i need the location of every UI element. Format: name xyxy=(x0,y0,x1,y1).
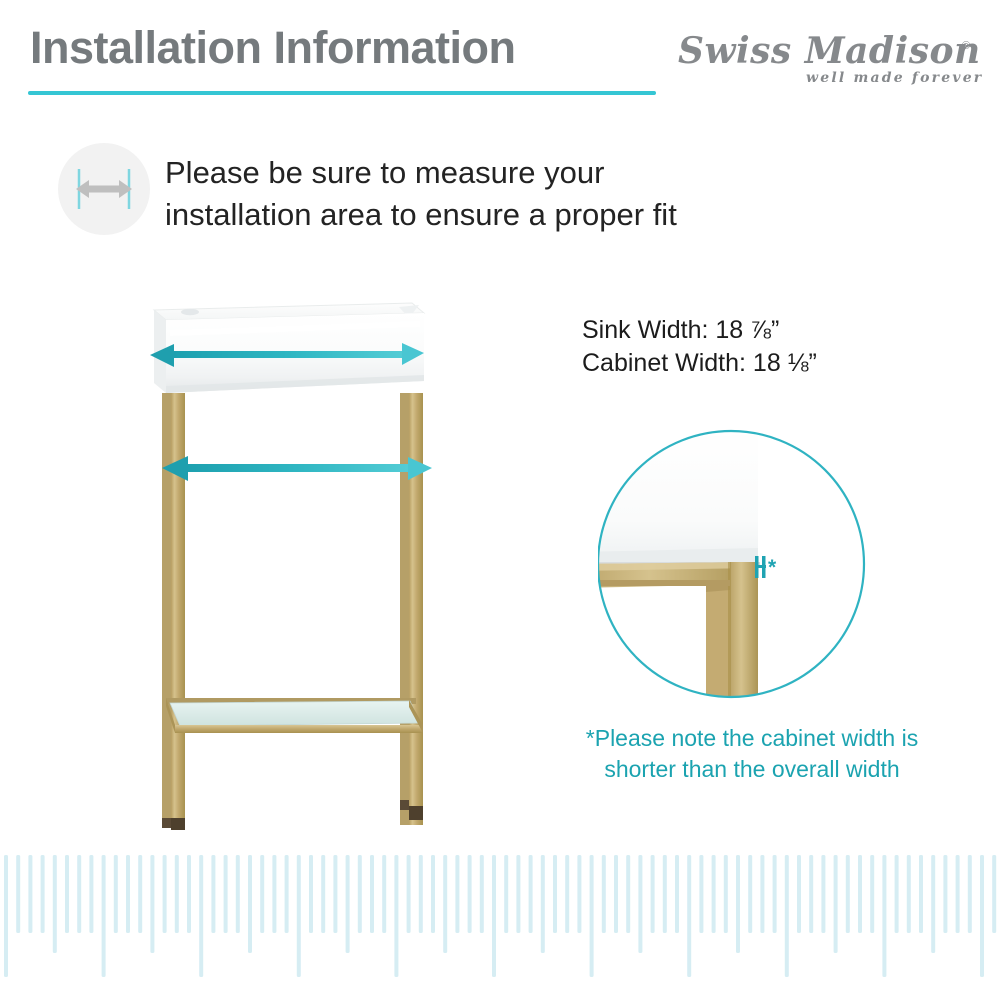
ruler-tick xyxy=(992,855,996,933)
ruler-tick xyxy=(394,855,398,977)
ruler-tick xyxy=(614,855,618,933)
ruler-tick xyxy=(163,855,167,933)
ruler-tick xyxy=(516,855,520,933)
ruler-tick xyxy=(321,855,325,933)
ruler-tick xyxy=(89,855,93,933)
ruler-tick xyxy=(443,855,447,953)
ruler-tick xyxy=(431,855,435,933)
ruler-tick xyxy=(138,855,142,933)
ruler-tick xyxy=(187,855,191,933)
ruler-tick xyxy=(565,855,569,933)
ruler-tick xyxy=(577,855,581,933)
ruler-tick xyxy=(260,855,264,933)
ruler-tick xyxy=(480,855,484,933)
ruler-tick xyxy=(504,855,508,933)
ruler-tick xyxy=(65,855,69,933)
ruler-tick xyxy=(4,855,8,977)
ruler-tick xyxy=(943,855,947,933)
ruler-tick xyxy=(773,855,777,933)
ruler-tick xyxy=(16,855,20,933)
ruler-tick xyxy=(358,855,362,933)
ruler-tick xyxy=(553,855,557,933)
ruler-tick xyxy=(895,855,899,933)
ruler-tick xyxy=(541,855,545,953)
cabinet-width-arrow xyxy=(162,456,432,481)
ruler-tick xyxy=(956,855,960,933)
ruler-tick xyxy=(882,855,886,977)
footnote-line-2: shorter than the overall width xyxy=(572,754,932,785)
ruler-tick xyxy=(370,855,374,933)
ruler-tick xyxy=(590,855,594,977)
ruler-tick xyxy=(858,855,862,933)
ruler-tick xyxy=(663,855,667,933)
ruler-tick xyxy=(724,855,728,933)
ruler-tick xyxy=(211,855,215,933)
ruler-tick xyxy=(419,855,423,933)
installation-information-page: Installation Information Swiss Madison ®… xyxy=(0,0,1000,1000)
ruler-tick xyxy=(809,855,813,933)
ruler-tick xyxy=(175,855,179,933)
ruler-tick xyxy=(675,855,679,933)
ruler-tick xyxy=(114,855,118,933)
ruler-tick xyxy=(760,855,764,933)
ruler-tick xyxy=(785,855,789,977)
ruler-tick xyxy=(492,855,496,977)
ruler-tick xyxy=(468,855,472,933)
ruler-tick xyxy=(272,855,276,933)
ruler-tick xyxy=(699,855,703,933)
ruler-tick xyxy=(846,855,850,933)
ruler-tick xyxy=(102,855,106,977)
ruler-tick xyxy=(931,855,935,953)
ruler-tick xyxy=(309,855,313,933)
ruler-tick xyxy=(687,855,691,977)
ruler-tick xyxy=(150,855,154,953)
ruler-tick xyxy=(748,855,752,933)
ruler-tick xyxy=(224,855,228,933)
ruler-tick xyxy=(736,855,740,953)
ruler-tick xyxy=(455,855,459,933)
ruler-tick xyxy=(333,855,337,933)
ruler-tick xyxy=(602,855,606,933)
cabinet-offset-marker: * xyxy=(754,556,775,580)
offset-bracket-icon xyxy=(754,556,768,578)
ruler-tick xyxy=(980,855,984,977)
ruler-tick xyxy=(821,855,825,933)
ruler-tick xyxy=(41,855,45,933)
ruler-tick xyxy=(919,855,923,933)
ruler-tick xyxy=(907,855,911,933)
ruler-tick xyxy=(248,855,252,953)
ruler-tick xyxy=(236,855,240,933)
ruler-tick xyxy=(407,855,411,933)
ruler-tick xyxy=(870,855,874,933)
ruler-tick-strip xyxy=(0,845,1000,1000)
ruler-tick xyxy=(712,855,716,933)
ruler-tick xyxy=(346,855,350,953)
ruler-tick xyxy=(638,855,642,953)
ruler-tick xyxy=(53,855,57,953)
ruler-tick xyxy=(651,855,655,933)
ruler-tick xyxy=(199,855,203,977)
ruler-tick xyxy=(834,855,838,953)
ruler-tick xyxy=(797,855,801,933)
ruler-tick xyxy=(28,855,32,933)
cabinet-width-footnote: *Please note the cabinet width is shorte… xyxy=(572,723,932,785)
ruler-tick xyxy=(77,855,81,933)
ruler-tick xyxy=(126,855,130,933)
marker-asterisk: * xyxy=(768,556,775,579)
ruler-tick xyxy=(297,855,301,977)
ruler-tick xyxy=(529,855,533,933)
footnote-line-1: *Please note the cabinet width is xyxy=(572,723,932,754)
ruler-tick xyxy=(285,855,289,933)
ruler-tick xyxy=(382,855,386,933)
ruler-tick xyxy=(626,855,630,933)
ruler-tick xyxy=(968,855,972,933)
